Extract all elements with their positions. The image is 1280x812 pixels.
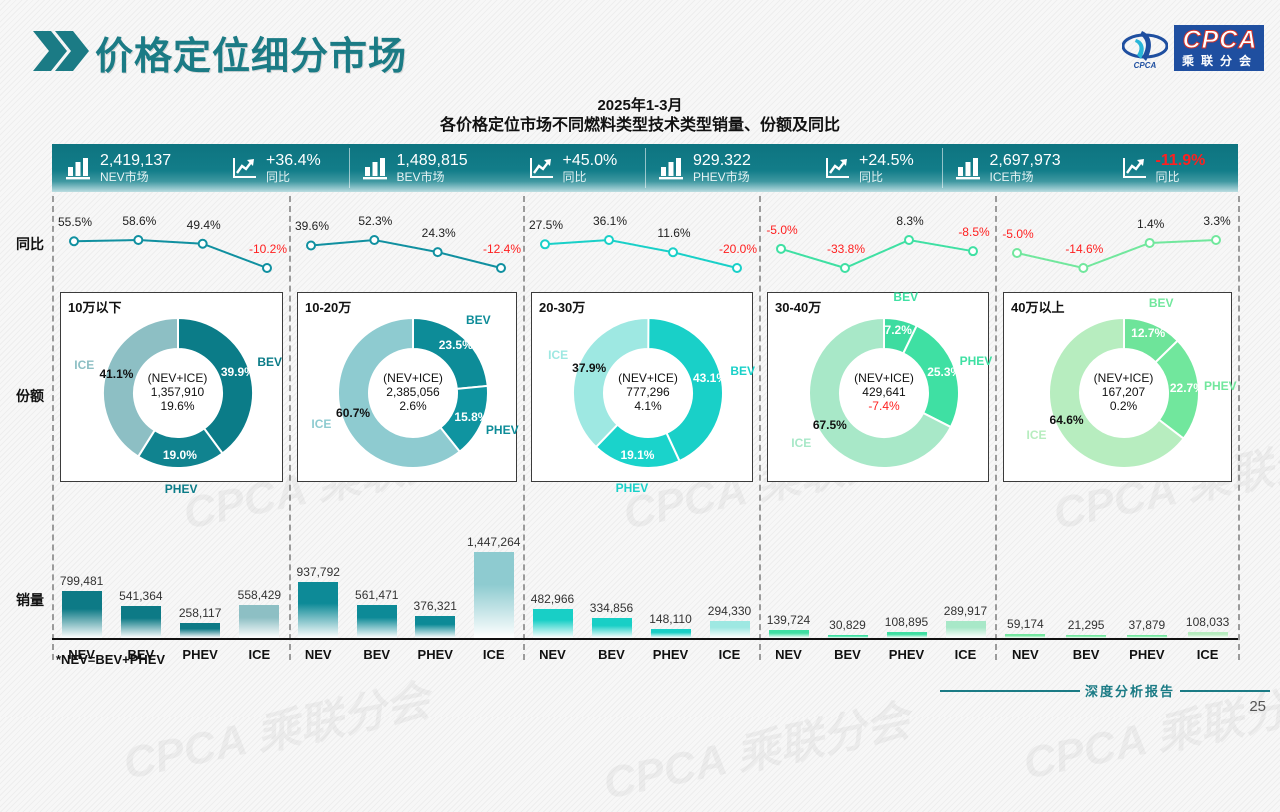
segment-column-0: 55.5%58.6%49.4%-10.2%10万以下39.9%19.0%41.1… (52, 196, 289, 666)
yoy-point-label: -10.2% (247, 242, 289, 256)
donut-card-title: 30-40万 (775, 297, 821, 316)
cpca-mark-icon: CPCA (1122, 27, 1168, 69)
footnote: *NEV=BEV+PHEV (56, 652, 165, 667)
donut-legend-ice: ICE (1015, 428, 1059, 442)
yoy-point-label: 55.5% (54, 215, 96, 229)
bar-axis (52, 638, 289, 640)
bar-NEV (533, 609, 573, 638)
bar-category-label: NEV (755, 647, 823, 662)
bar-value-label: 258,117 (160, 606, 240, 620)
chart-title-line2: 各价格定位市场不同燃料类型技术类型销量、份额及同比 (0, 115, 1280, 136)
bar-value-label: 289,917 (926, 604, 1006, 618)
cpca-logo: CPCA CPCA 乘联分会 (1122, 26, 1264, 70)
volume-bar-chart: 482,966NEV334,856BEV148,110PHEV294,330IC… (523, 542, 759, 666)
kpi-banner: 2,419,137NEV市场+36.4%同比1,489,815BEV市场+45.… (52, 144, 1238, 192)
bar-BEV (1066, 635, 1106, 638)
yoy-point-label: -8.5% (953, 225, 995, 239)
donut-center-text: (NEV+ICE)1,357,91019.6% (128, 371, 228, 413)
kpi-delta-label: 同比 (266, 170, 321, 185)
segment-column-1: 39.6%52.3%24.3%-12.4%10-20万23.5%15.8%60.… (289, 196, 523, 666)
kpi-cell-ICE市场: 2,697,973ICE市场-11.9%同比 (942, 144, 1239, 192)
yoy-point-label: 58.6% (118, 214, 160, 228)
bar-category-label: ICE (225, 647, 293, 662)
yoy-point-label: -5.0% (997, 227, 1039, 241)
donut-legend-bev: BEV (456, 313, 500, 327)
kpi-delta-group: +36.4%同比 (218, 151, 321, 185)
bar-ICE (1188, 632, 1228, 638)
yoy-point-label: 3.3% (1196, 214, 1238, 228)
donut-center-line1: (NEV+ICE) (1074, 371, 1174, 385)
bar-axis (995, 638, 1238, 640)
trend-up-icon (529, 156, 555, 180)
page-footer: 深度分析报告 25 (0, 671, 1280, 717)
bar-NEV (62, 591, 102, 639)
page-title: 价格定位细分市场 (95, 25, 407, 80)
yoy-point-label: -20.0% (717, 242, 759, 256)
chart-grid: 同比 份额 销量 CPCA 乘联分会CPCA 乘联分会CPCA 乘联分会CPCA… (0, 196, 1280, 666)
bar-category-label: ICE (932, 647, 1000, 662)
bar-value-label: 799,481 (42, 574, 122, 588)
kpi-cell-NEV市场: 2,419,137NEV市场+36.4%同比 (52, 144, 349, 192)
kpi-delta: -11.9% (1156, 151, 1206, 170)
kpi-label: BEV市场 (397, 170, 468, 185)
share-donut-card: 10万以下39.9%19.0%41.1%BEVPHEVICE(NEV+ICE)1… (60, 292, 283, 482)
bar-category-label: PHEV (873, 647, 941, 662)
kpi-value-group: 2,697,973ICE市场 (942, 151, 1108, 185)
kpi-value: 1,489,815 (397, 151, 468, 170)
donut-center-line1: (NEV+ICE) (363, 371, 463, 385)
donut-slice-value: 64.6% (1041, 413, 1093, 427)
kpi-value: 929.322 (693, 151, 751, 170)
bar-value-label: 541,364 (101, 589, 181, 603)
yoy-point-label: -33.8% (825, 242, 867, 256)
segment-column-2: 27.5%36.1%11.6%-20.0%20-30万43.1%19.1%37.… (523, 196, 759, 666)
donut-center-text: (NEV+ICE)429,641-7.4% (834, 371, 934, 413)
trend-up-icon (232, 156, 258, 180)
double-chevron-icon (33, 31, 89, 71)
donut-legend-phev: PHEV (954, 354, 998, 368)
donut-center-line3: 19.6% (128, 399, 228, 413)
yoy-line-chart (289, 200, 523, 282)
bar-ICE (474, 552, 514, 638)
kpi-delta-group: +24.5%同比 (811, 151, 914, 185)
donut-legend-phev: PHEV (480, 423, 524, 437)
kpi-delta-label: 同比 (859, 170, 914, 185)
bar-BEV (357, 605, 397, 638)
donut-legend-phev: PHEV (610, 481, 654, 495)
donut-card-title: 20-30万 (539, 297, 585, 316)
donut-legend-bev: BEV (1139, 296, 1183, 310)
donut-center-line2: 777,296 (598, 385, 698, 399)
bar-PHEV (651, 629, 691, 638)
bar-PHEV (415, 616, 455, 638)
kpi-delta: +36.4% (266, 151, 321, 170)
donut-center-line1: (NEV+ICE) (598, 371, 698, 385)
segment-column-4: -5.0%-14.6%1.4%3.3%40万以上12.7%22.7%64.6%B… (995, 196, 1238, 666)
row-label-volume: 销量 (8, 590, 52, 610)
donut-slice-value: 19.0% (154, 448, 206, 462)
donut-card-title: 10万以下 (68, 297, 121, 316)
kpi-delta-group: -11.9%同比 (1108, 151, 1206, 185)
bar-axis (289, 638, 523, 640)
bar-chart-icon (659, 156, 685, 180)
bar-PHEV (180, 623, 220, 638)
donut-center-text: (NEV+ICE)777,2964.1% (598, 371, 698, 413)
donut-legend-ice: ICE (536, 348, 580, 362)
footer-rule-left (940, 690, 1080, 692)
bar-axis (759, 638, 995, 640)
yoy-point-label: 8.3% (889, 214, 931, 228)
bar-category-label: PHEV (637, 647, 705, 662)
donut-legend-bev: BEV (884, 290, 928, 304)
volume-bar-chart: 937,792NEV561,471BEV376,321PHEV1,447,264… (289, 542, 523, 666)
yoy-point-label: -12.4% (481, 242, 523, 256)
donut-center-text: (NEV+ICE)2,385,0562.6% (363, 371, 463, 413)
bar-BEV (121, 606, 161, 638)
yoy-line-chart (995, 200, 1238, 282)
bar-category-label: ICE (696, 647, 764, 662)
bar-value-label: 937,792 (278, 565, 358, 579)
kpi-cell-BEV市场: 1,489,815BEV市场+45.0%同比 (349, 144, 646, 192)
volume-bar-chart: 59,174NEV21,295BEV37,879PHEV108,033ICE (995, 542, 1238, 666)
trend-up-icon (825, 156, 851, 180)
share-donut-card: 10-20万23.5%15.8%60.7%BEVPHEVICE(NEV+ICE)… (297, 292, 517, 482)
footer-text: 深度分析报告 (1085, 681, 1175, 700)
donut-center-line2: 1,357,910 (128, 385, 228, 399)
page-number: 25 (1249, 698, 1266, 715)
donut-center-line3: 0.2% (1074, 399, 1174, 413)
chart-title: 2025年1-3月 各价格定位市场不同燃料类型技术类型销量、份额及同比 (0, 96, 1280, 136)
bar-category-label: ICE (1174, 647, 1242, 662)
bar-BEV (828, 635, 868, 638)
bar-category-label: PHEV (166, 647, 234, 662)
donut-slice-value: 23.5% (430, 338, 482, 352)
yoy-point-label: 27.5% (525, 218, 567, 232)
kpi-cell-PHEV市场: 929.322PHEV市场+24.5%同比 (645, 144, 942, 192)
kpi-delta-group: +45.0%同比 (515, 151, 618, 185)
segment-column-3: -5.0%-33.8%8.3%-8.5%30-40万7.2%25.3%67.5%… (759, 196, 995, 666)
bar-value-label: 376,321 (395, 599, 475, 613)
bar-chart-icon (363, 156, 389, 180)
bar-value-label: 558,429 (219, 588, 299, 602)
footer-rule-right (1180, 690, 1270, 692)
yoy-point-label: 11.6% (653, 226, 695, 240)
bar-PHEV (1127, 635, 1167, 638)
kpi-value: 2,419,137 (100, 151, 171, 170)
kpi-label: PHEV市场 (693, 170, 751, 185)
donut-center-line3: 4.1% (598, 399, 698, 413)
bar-NEV (769, 630, 809, 638)
trend-up-icon (1122, 156, 1148, 180)
kpi-delta-label: 同比 (1156, 170, 1206, 185)
donut-center-line3: -7.4% (834, 399, 934, 413)
bar-value-label: 1,447,264 (454, 535, 534, 549)
bar-category-label: BEV (814, 647, 882, 662)
bar-ICE (239, 605, 279, 638)
kpi-label: NEV市场 (100, 170, 171, 185)
donut-slice-value: 19.1% (611, 448, 663, 462)
svg-text:CPCA: CPCA (1134, 61, 1157, 69)
donut-slice-value: 67.5% (804, 418, 856, 432)
row-label-share: 份额 (8, 386, 52, 406)
row-label-yoy: 同比 (8, 234, 52, 254)
yoy-point-label: 1.4% (1130, 217, 1172, 231)
kpi-value-group: 2,419,137NEV市场 (52, 151, 218, 185)
yoy-point-label: 52.3% (354, 214, 396, 228)
share-donut-card: 20-30万43.1%19.1%37.9%BEVPHEVICE(NEV+ICE)… (531, 292, 753, 482)
bar-NEV (298, 582, 338, 638)
share-donut-card: 30-40万7.2%25.3%67.5%BEVPHEVICE(NEV+ICE)4… (767, 292, 989, 482)
bar-BEV (592, 618, 632, 638)
volume-bar-chart: 799,481NEV541,364BEV258,117PHEV558,429IC… (52, 542, 289, 666)
bar-axis (523, 638, 759, 640)
volume-bar-chart: 139,724NEV30,829BEV108,895PHEV289,917ICE (759, 542, 995, 666)
bar-ICE (710, 621, 750, 638)
cpca-name: CPCA (1183, 27, 1258, 53)
yoy-line-chart (52, 200, 289, 282)
yoy-line-chart (759, 200, 995, 282)
donut-center-line2: 167,207 (1074, 385, 1174, 399)
bar-category-label: NEV (991, 647, 1059, 662)
donut-center-line2: 2,385,056 (363, 385, 463, 399)
yoy-point-label: 39.6% (291, 219, 333, 233)
donut-center-line3: 2.6% (363, 399, 463, 413)
share-donut-card: 40万以上12.7%22.7%64.6%BEVPHEVICE(NEV+ICE)1… (1003, 292, 1232, 482)
donut-legend-bev: BEV (248, 355, 292, 369)
donut-legend-ice: ICE (299, 417, 343, 431)
donut-legend-ice: ICE (779, 436, 823, 450)
yoy-point-label: 36.1% (589, 214, 631, 228)
kpi-delta: +24.5% (859, 151, 914, 170)
yoy-line-chart (523, 200, 759, 282)
bar-category-label: NEV (519, 647, 587, 662)
donut-legend-phev: PHEV (1198, 379, 1242, 393)
donut-card-title: 40万以上 (1011, 297, 1064, 316)
donut-center-line1: (NEV+ICE) (128, 371, 228, 385)
donut-legend-phev: PHEV (159, 482, 203, 496)
donut-center-line2: 429,641 (834, 385, 934, 399)
kpi-value-group: 929.322PHEV市场 (645, 151, 811, 185)
cpca-wordmark: CPCA 乘联分会 (1174, 25, 1264, 71)
kpi-delta: +45.0% (563, 151, 618, 170)
kpi-label: ICE市场 (990, 170, 1061, 185)
bar-category-label: PHEV (1113, 647, 1181, 662)
donut-center-line1: (NEV+ICE) (834, 371, 934, 385)
cpca-subname: 乘联分会 (1182, 54, 1258, 68)
donut-legend-ice: ICE (62, 358, 106, 372)
bar-ICE (946, 621, 986, 638)
yoy-point-label: -14.6% (1063, 242, 1105, 256)
bar-PHEV (887, 632, 927, 638)
bar-NEV (1005, 634, 1045, 638)
donut-slice-value: 12.7% (1122, 326, 1174, 340)
donut-slice-value: 7.2% (872, 323, 924, 337)
bar-chart-icon (956, 156, 982, 180)
yoy-point-label: 49.4% (183, 218, 225, 232)
bar-category-label: BEV (1052, 647, 1120, 662)
chart-title-line1: 2025年1-3月 (0, 96, 1280, 115)
yoy-point-label: 24.3% (418, 226, 460, 240)
donut-card-title: 10-20万 (305, 297, 351, 316)
bar-category-label: BEV (578, 647, 646, 662)
kpi-value: 2,697,973 (990, 151, 1061, 170)
yoy-point-label: -5.0% (761, 223, 803, 237)
kpi-delta-label: 同比 (563, 170, 618, 185)
kpi-value-group: 1,489,815BEV市场 (349, 151, 515, 185)
bar-chart-icon (66, 156, 92, 180)
bar-value-label: 108,033 (1168, 615, 1248, 629)
page-header: 价格定位细分市场 CPCA CPCA 乘联分会 (0, 0, 1280, 92)
donut-center-text: (NEV+ICE)167,2070.2% (1074, 371, 1174, 413)
column-divider-5 (1238, 196, 1240, 660)
